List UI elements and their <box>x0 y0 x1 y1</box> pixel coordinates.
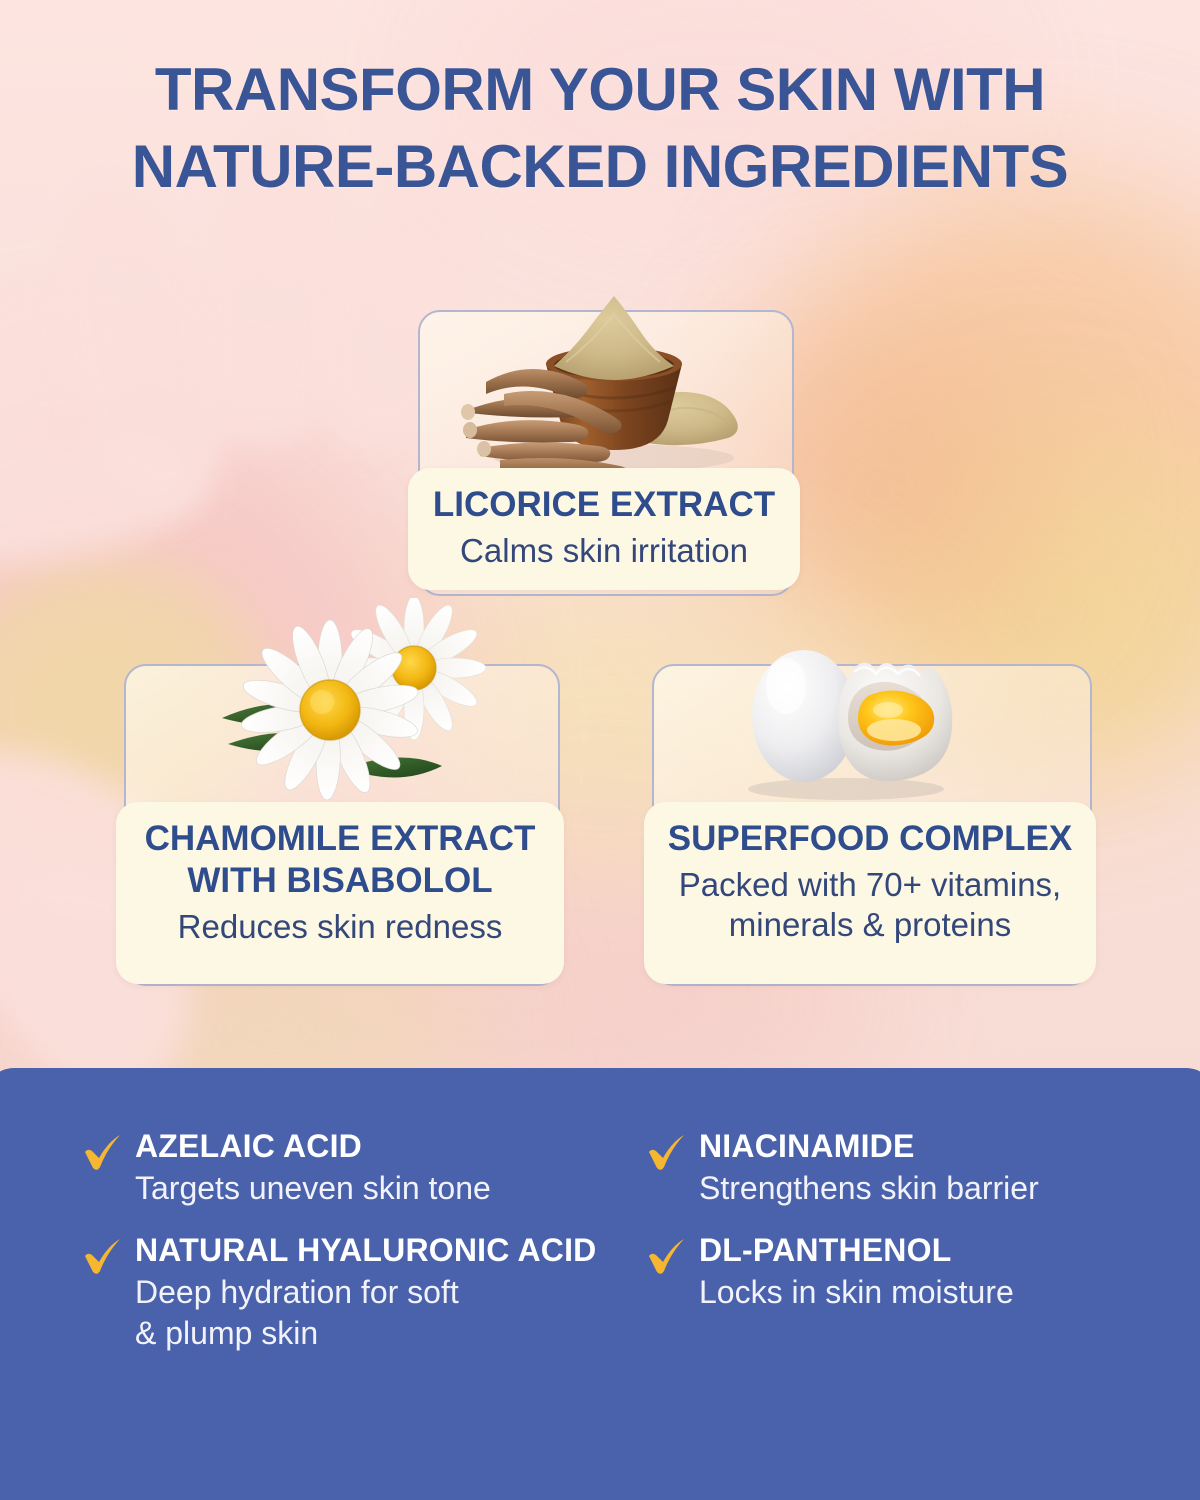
check-icon <box>644 1130 686 1172</box>
check-icon <box>80 1130 122 1172</box>
ingredient-infographic-poster: TRANSFORM YOUR SKIN WITH NATURE-BACKED I… <box>0 0 1200 1500</box>
benefit-subtitle: Locks in skin moisture <box>699 1272 1014 1314</box>
card-title-superfood: SUPERFOOD COMPLEX <box>658 818 1082 860</box>
benefit-title: AZELAIC ACID <box>135 1126 491 1167</box>
headline-line-2: NATURE-BACKED INGREDIENTS <box>0 129 1200 206</box>
card-title-licorice: LICORICE EXTRACT <box>422 484 786 526</box>
card-subtitle-licorice: Calms skin irritation <box>422 531 786 571</box>
benefit-item-natural-hyaluronic-acid: NATURAL HYALURONIC ACID Deep hydration f… <box>80 1230 634 1355</box>
benefit-item-dl-panthenol: DL-PANTHENOL Locks in skin moisture <box>644 1230 1176 1355</box>
check-icon <box>644 1234 686 1276</box>
headline-line-1: TRANSFORM YOUR SKIN WITH <box>0 52 1200 129</box>
benefit-item-azelaic-acid: AZELAIC ACID Targets uneven skin tone <box>80 1126 634 1210</box>
benefit-subtitle: Targets uneven skin tone <box>135 1168 491 1210</box>
page-title: TRANSFORM YOUR SKIN WITH NATURE-BACKED I… <box>0 52 1200 206</box>
benefit-subtitle: Deep hydration for soft & plump skin <box>135 1272 597 1355</box>
benefit-item-niacinamide: NIACINAMIDE Strengthens skin barrier <box>644 1126 1176 1210</box>
benefit-title: DL-PANTHENOL <box>699 1230 1014 1271</box>
card-caption-superfood: SUPERFOOD COMPLEX Packed with 70+ vitami… <box>644 802 1096 984</box>
benefits-panel: AZELAIC ACID Targets uneven skin tone NI… <box>0 1068 1200 1500</box>
benefit-title: NATURAL HYALURONIC ACID <box>135 1230 597 1271</box>
card-subtitle-superfood: Packed with 70+ vitamins, minerals & pro… <box>658 865 1082 946</box>
benefit-title: NIACINAMIDE <box>699 1126 1039 1167</box>
card-caption-chamomile: CHAMOMILE EXTRACT WITH BISABOLOL Reduces… <box>116 802 564 984</box>
benefits-list: AZELAIC ACID Targets uneven skin tone NI… <box>80 1126 1176 1355</box>
card-title-chamomile: CHAMOMILE EXTRACT WITH BISABOLOL <box>130 818 550 902</box>
card-caption-licorice: LICORICE EXTRACT Calms skin irritation <box>408 468 800 590</box>
check-icon <box>80 1234 122 1276</box>
benefit-subtitle: Strengthens skin barrier <box>699 1168 1039 1210</box>
card-subtitle-chamomile: Reduces skin redness <box>130 907 550 947</box>
